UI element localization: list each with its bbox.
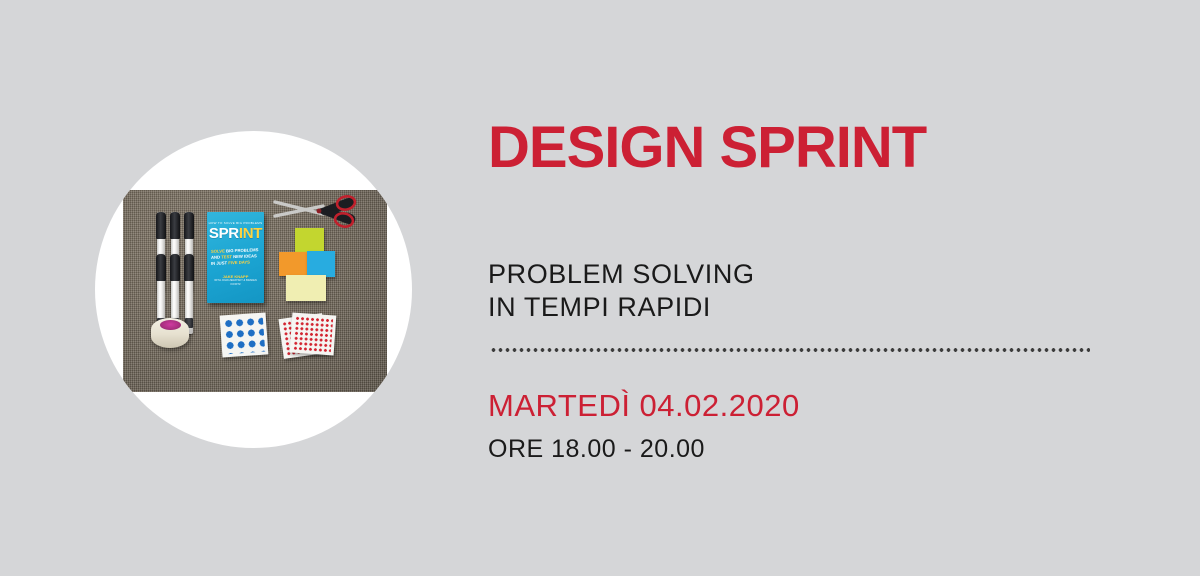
book-blurb: SOLVE BIG PROBLEMS AND TEST NEW IDEAS IN… (207, 247, 264, 267)
dotted-divider (490, 348, 1090, 352)
sticky-note-blue (307, 251, 335, 277)
text-content-column: DESIGN SPRINT PROBLEM SOLVING IN TEMPI R… (488, 0, 1128, 576)
page-title: DESIGN SPRINT (488, 118, 926, 178)
sticky-note-cream (286, 275, 326, 301)
tape-core (160, 320, 181, 330)
subtitle-line-2: IN TEMPI RAPIDI (488, 292, 711, 322)
sticky-note-orange (279, 252, 308, 276)
book-author-sub: WITH JOHN ZERATSKY & BRADEN KOWITZ (207, 279, 264, 287)
red-dot-sticker-sheet (290, 313, 337, 356)
event-date: MARTEDÌ 04.02.2020 (488, 388, 800, 424)
blue-dot-sticker-sheet (220, 312, 269, 357)
scissors-icon (273, 194, 363, 230)
masking-tape-icon (151, 318, 189, 348)
book-title: SPRINT (207, 226, 264, 241)
event-time: ORE 18.00 - 20.00 (488, 434, 705, 464)
workshop-photo: HOW TO SOLVE BIG PROBLEMS SPRINT SOLVE B… (123, 190, 387, 392)
book-top-line: HOW TO SOLVE BIG PROBLEMS (207, 221, 264, 225)
red-dots (293, 316, 333, 353)
subtitle-line-1: PROBLEM SOLVING (488, 259, 755, 289)
blue-dots (223, 316, 265, 355)
sprint-book-cover: HOW TO SOLVE BIG PROBLEMS SPRINT SOLVE B… (207, 212, 264, 303)
subtitle: PROBLEM SOLVING IN TEMPI RAPIDI (488, 258, 755, 324)
photo-circle-badge: HOW TO SOLVE BIG PROBLEMS SPRINT SOLVE B… (95, 131, 412, 448)
